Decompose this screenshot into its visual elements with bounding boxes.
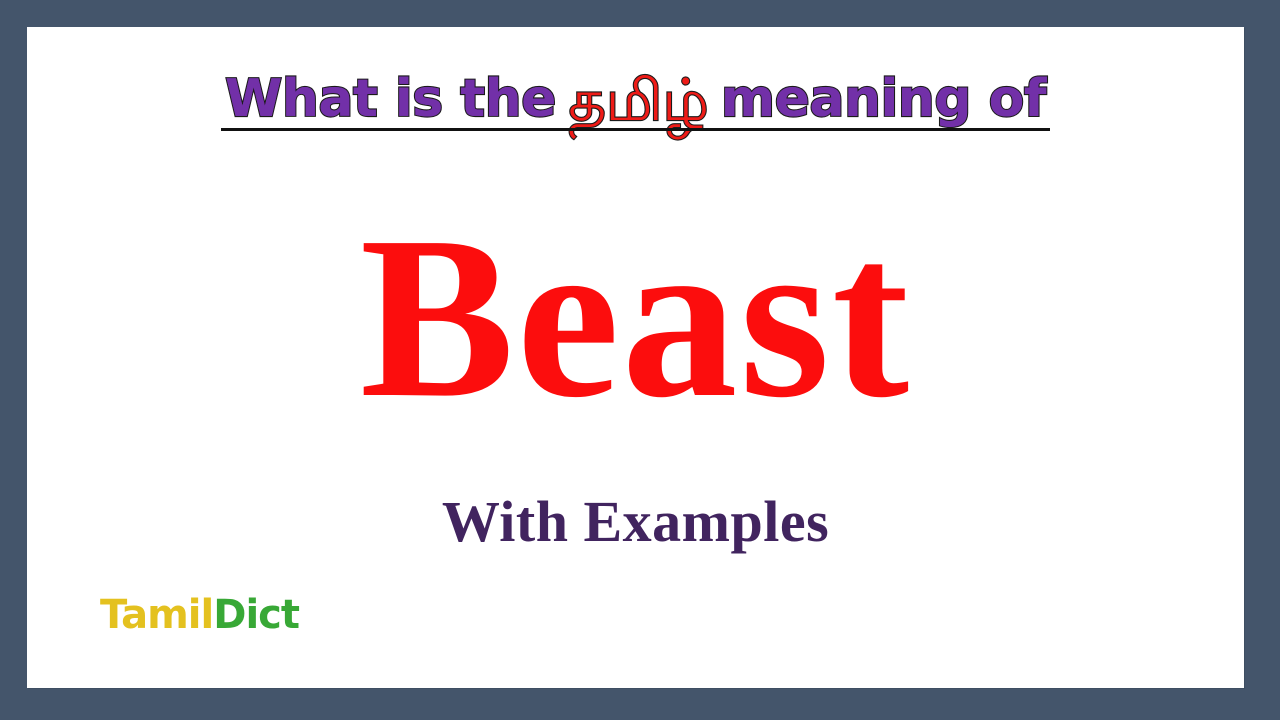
slide-content-card: What is the தமிழ் meaning of Beast With … <box>27 27 1244 688</box>
brand-logo: TamilDict <box>100 595 299 635</box>
slide-canvas: What is the தமிழ் meaning of Beast With … <box>0 0 1280 720</box>
header-prefix-text: What is the <box>225 69 556 129</box>
headword-title: Beast <box>27 202 1244 434</box>
brand-logo-part-dict: Dict <box>213 592 299 638</box>
subtitle-with-examples: With Examples <box>27 493 1244 551</box>
header-underlined-group: What is the தமிழ் meaning of <box>225 67 1046 131</box>
header-question: What is the தமிழ் meaning of <box>27 67 1244 131</box>
header-suffix-text: meaning of <box>721 69 1046 129</box>
brand-logo-part-tamil: Tamil <box>100 592 213 638</box>
header-tamil-word: தமிழ் <box>568 66 708 134</box>
header-underline-rule <box>221 128 1050 131</box>
